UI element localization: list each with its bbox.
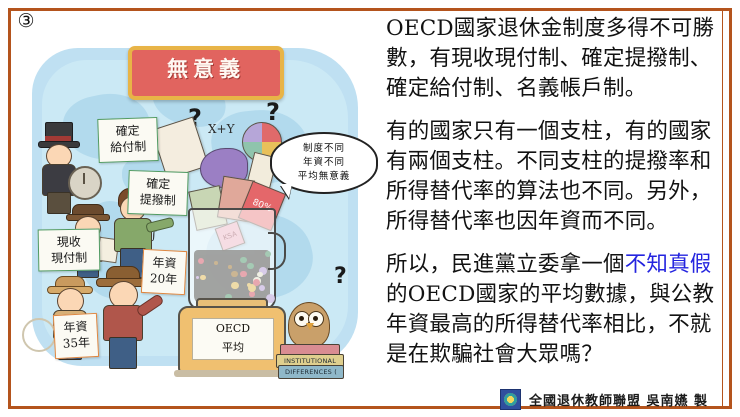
blender-label: OECD 平均 (192, 318, 274, 360)
sign-line-1: 年資 (145, 254, 184, 272)
sign-line-2: 給付制 (101, 138, 156, 156)
blender-particle (231, 282, 239, 290)
owl-beak (306, 323, 314, 330)
speech-bubble-tail (280, 184, 292, 198)
illustration-panel: 無意義 ? ? ? X+Y X=∫ 80% KSA OECD 平均 (12, 26, 372, 386)
sign-line-1: 確定 (131, 175, 186, 193)
lasso-icon (22, 318, 56, 352)
blender-feet (174, 370, 286, 377)
sign-line-2: 35年 (57, 334, 96, 352)
blender-contents (194, 250, 270, 304)
character-top-hat-gentleman (34, 122, 90, 214)
blender-particle (214, 261, 218, 265)
sign-line-2: 提撥制 (130, 191, 185, 209)
blender-particle (240, 257, 246, 263)
blender-particle (253, 279, 260, 286)
sign-line-2: 20年 (144, 270, 183, 288)
book-differences: DIFFERENCES ( (278, 365, 344, 379)
paragraph-2: 有的國家只有一個支柱，有的國家有兩個支柱。不同支柱的提撥率和所得替代率的算法也不… (386, 117, 720, 237)
sign-line-1: 現收 (41, 234, 97, 251)
text-column: OECD國家退休金制度多得不可勝數，有現收現付制、確定提撥制、確定給付制、名義帳… (386, 14, 720, 383)
sign-defined-contribution: 確定 提撥制 (127, 170, 188, 216)
bubble-line-1: 制度不同 (303, 143, 345, 154)
paragraph-1: OECD國家退休金制度多得不可勝數，有現收現付制、確定提撥制、確定給付制、名義帳… (386, 14, 720, 104)
blender-particle (249, 291, 254, 296)
organization-logo-icon (500, 389, 521, 410)
blender-label-line1: OECD (193, 319, 273, 338)
sign-line-1: 確定 (100, 122, 155, 140)
blender-particle (265, 251, 271, 257)
bubble-line-2: 年資不同 (303, 157, 345, 168)
bubble-line-3: 平均無意義 (298, 171, 351, 182)
paragraph-3: 所以，民進黨立委拿一個不知真假的OECD國家的平均數據，與公教年資最高的所得替代… (386, 250, 720, 370)
sign-service-20-years: 年資 20年 (141, 249, 187, 295)
footer-credit-text: 全國退休教師聯盟 吳南嬿 製 (529, 390, 708, 409)
blender-particle (257, 272, 263, 278)
frame-right-rule (729, 8, 732, 409)
blender-particle (247, 263, 254, 270)
paragraph-3-part-a: 所以，民進黨立委拿一個 (386, 252, 625, 277)
character-legs (109, 337, 137, 369)
slide-root: ③ 無意義 ? ? ? X+Y X=∫ 80% KSA (0, 0, 740, 417)
owl-pupil (313, 316, 318, 321)
blender-label-line2: 平均 (193, 338, 273, 357)
blender-base-oecd-average: OECD 平均 (178, 306, 286, 376)
blender-particle (228, 265, 231, 268)
blender-particle (231, 271, 238, 278)
owl-pupil (299, 316, 304, 321)
frame-inner-right-rule (722, 8, 723, 409)
formula-xy: X+Y (208, 122, 235, 136)
footer-credit: 全國退休教師聯盟 吳南嬿 製 (500, 388, 722, 410)
paragraph-3-part-b: 的OECD國家的平均數據，與公教年資最高的所得替代率相比，不就是在欺騙社會大眾嗎… (386, 282, 714, 367)
blender-particle (240, 271, 246, 277)
blender-particle (196, 276, 199, 279)
owl-icon (288, 302, 330, 348)
paragraph-3-highlight: 不知真假 (625, 252, 712, 277)
sign-pay-as-you-go: 現收 現付制 (38, 228, 101, 271)
banner-meaningless: 無意義 (128, 46, 284, 100)
blender-particle (259, 285, 265, 291)
question-mark-icon: ? (266, 98, 280, 126)
clock-icon (68, 166, 102, 200)
sign-service-35-years: 年資 35年 (53, 313, 99, 359)
sign-line-2: 現付制 (41, 250, 97, 267)
blender-particle (200, 275, 205, 280)
sign-defined-benefit: 確定 給付制 (97, 117, 158, 163)
question-mark-icon: ? (334, 264, 347, 289)
banner-title: 無意義 (132, 50, 280, 88)
frame-left-rule (8, 8, 11, 409)
blender-jar-icon (188, 208, 276, 310)
frame-top-rule (8, 8, 732, 11)
blender-particle (198, 258, 204, 264)
